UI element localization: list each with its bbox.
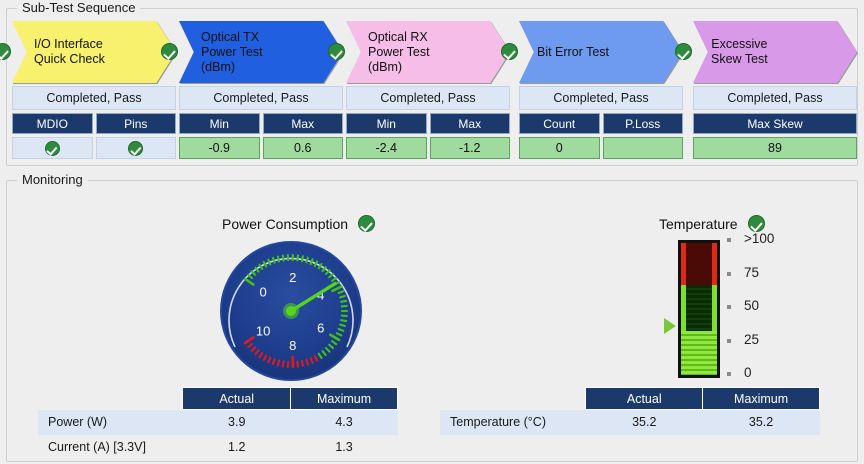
gauge-tick-label: 0: [259, 285, 266, 300]
table-row: Power (W)3.94.3: [38, 410, 398, 435]
power-consumption-gauge: 0246810: [219, 241, 363, 381]
table-cell-actual: 1.2: [183, 435, 291, 460]
test-block-chevron[interactable]: Excessive Skew Test: [693, 21, 857, 83]
table-row: Temperature (°C)35.235.2: [440, 410, 820, 435]
temperature-table-col-actual: Actual: [586, 388, 703, 410]
test-block-label: Optical TX Power Test (dBm): [179, 30, 301, 75]
chevron-shape: Optical RX Power Test (dBm): [346, 21, 510, 83]
test-block-status: Completed, Pass: [179, 86, 343, 110]
table-cell-maximum: 35.2: [703, 410, 820, 435]
thermometer-tick: [727, 339, 731, 343]
check-circle-icon: [748, 215, 765, 232]
check-circle-icon: [358, 215, 375, 232]
test-block[interactable]: Optical TX Power Test (dBm)Completed, Pa…: [179, 21, 343, 159]
check-circle-icon: [45, 141, 60, 156]
table-cell-label: Temperature (°C): [440, 410, 586, 435]
test-block-column-headers: MDIOPins: [12, 113, 176, 134]
test-block-column-headers: MinMax: [346, 113, 510, 134]
test-block-status: Completed, Pass: [346, 86, 510, 110]
chevron-shape: I/O Interface Quick Check: [12, 21, 176, 83]
column-header: Max: [430, 113, 511, 134]
column-header: Min: [346, 113, 427, 134]
column-header: MDIO: [12, 113, 93, 134]
power-consumption-header: Power Consumption: [222, 215, 375, 232]
test-block-values: 89: [693, 137, 857, 159]
gauge-tick: [283, 256, 284, 261]
value-cell: -2.4: [346, 137, 427, 159]
check-circle-icon: [128, 141, 143, 156]
test-block-values: 0: [519, 137, 683, 159]
gauge-tick: [302, 256, 303, 261]
thermometer-fill: [681, 331, 717, 375]
thermometer-scale-label: 25: [744, 332, 759, 347]
power-table-col-maximum: Maximum: [291, 388, 398, 410]
thermometer-scale-label: 0: [744, 365, 752, 380]
gauge-tick: [297, 255, 298, 260]
column-header: Max: [263, 113, 344, 134]
power-table-header-row: Actual Maximum: [38, 388, 398, 410]
thermometer-normal-zone: [681, 285, 717, 331]
test-block-values: -0.90.6: [179, 137, 343, 159]
chevron-shape: Optical TX Power Test (dBm): [179, 21, 343, 83]
test-block-label: I/O Interface Quick Check: [12, 37, 143, 67]
temperature-table: Actual Maximum Temperature (°C)35.235.2: [440, 387, 820, 435]
gauge-tick: [340, 325, 345, 326]
check-circle-icon: [0, 43, 11, 60]
test-block-label: Optical RX Power Test (dBm): [346, 30, 468, 75]
gauge-tick-label: 6: [317, 321, 324, 336]
test-block[interactable]: I/O Interface Quick CheckCompleted, Pass…: [12, 21, 176, 159]
table-cell-actual: 3.9: [183, 410, 291, 435]
gauge-tick: [302, 361, 303, 366]
gauge-tick: [341, 320, 346, 321]
gauge-tick: [278, 257, 279, 262]
test-block-column-headers: CountP.Loss: [519, 113, 683, 134]
power-table: Actual Maximum Power (W)3.94.3Current (A…: [38, 387, 398, 460]
temperature-label: Temperature: [659, 216, 738, 232]
monitoring-title: Monitoring: [17, 172, 88, 187]
table-cell-maximum: 1.3: [291, 435, 398, 460]
test-block-column-headers: Max Skew: [693, 113, 857, 134]
temperature-table-col-maximum: Maximum: [703, 388, 820, 410]
test-block-chevron[interactable]: Optical TX Power Test (dBm): [179, 21, 343, 83]
gauge-tick: [341, 301, 346, 302]
thermometer-value-marker: [664, 318, 676, 334]
thermometer-tick: [727, 238, 731, 242]
check-circle-icon: [675, 43, 692, 60]
chevron-shape: Bit Error Test: [519, 21, 683, 83]
value-cell: 0.6: [263, 137, 344, 159]
check-circle-icon: [501, 43, 518, 60]
test-block-label: Excessive Skew Test: [693, 37, 806, 67]
gauge-tick: [340, 296, 345, 297]
table-cell-maximum: 4.3: [291, 410, 398, 435]
value-cell: 0: [519, 137, 600, 159]
value-cell: 89: [693, 137, 857, 159]
value-cell: -1.2: [430, 137, 511, 159]
gauge-tick-label: 8: [289, 338, 296, 353]
gauge-tick: [283, 361, 284, 366]
gauge-tick: [297, 362, 298, 367]
column-header: Pins: [96, 113, 177, 134]
test-block[interactable]: Excessive Skew TestCompleted, PassMax Sk…: [693, 21, 857, 159]
check-circle-icon: [328, 43, 345, 60]
thermometer-scale-label: 75: [744, 265, 759, 280]
sub-test-sequence-group: Sub-Test Sequence I/O Interface Quick Ch…: [6, 8, 858, 166]
gauge-tick: [306, 360, 308, 365]
column-header: Count: [519, 113, 600, 134]
column-header: Min: [179, 113, 260, 134]
table-cell-label: Power (W): [38, 410, 183, 435]
power-table-col-blank: [38, 388, 183, 410]
column-header: P.Loss: [603, 113, 684, 134]
value-cell: [96, 137, 177, 159]
gauge-tick: [278, 361, 279, 366]
value-cell: -0.9: [179, 137, 260, 159]
gauge-tick-label: 10: [256, 324, 270, 339]
test-block-label: Bit Error Test: [519, 45, 647, 60]
test-block-chevron[interactable]: Bit Error Test: [519, 21, 683, 83]
value-cell: [603, 137, 684, 159]
test-block-status: Completed, Pass: [12, 86, 176, 110]
test-block-chevron[interactable]: Optical RX Power Test (dBm): [346, 21, 510, 83]
thermometer-critical-zone: [681, 243, 717, 285]
temperature-table-header-row: Actual Maximum: [440, 388, 820, 410]
test-block-status: Completed, Pass: [693, 86, 857, 110]
value-cell: [12, 137, 93, 159]
chevron-shape: Excessive Skew Test: [693, 21, 857, 83]
temperature-table-col-blank: [440, 388, 586, 410]
test-block-status: Completed, Pass: [519, 86, 683, 110]
check-circle-icon: [161, 43, 178, 60]
app-root: Sub-Test Sequence I/O Interface Quick Ch…: [0, 0, 864, 464]
temperature-thermometer: [678, 240, 720, 378]
test-block-values: [12, 137, 176, 159]
power-table-col-actual: Actual: [183, 388, 291, 410]
thermometer-scale-label: 50: [744, 298, 759, 313]
table-row: Current (A) [3.3V]1.21.3: [38, 435, 398, 460]
gauge-tick: [306, 258, 308, 263]
power-consumption-label: Power Consumption: [222, 216, 348, 232]
thermometer-tick: [727, 372, 731, 376]
temperature-header: Temperature: [659, 215, 765, 232]
column-header: Max Skew: [693, 113, 857, 134]
sub-test-sequence-title: Sub-Test Sequence: [17, 0, 140, 15]
thermometer-tick: [727, 305, 731, 309]
test-block-values: -2.4-1.2: [346, 137, 510, 159]
test-block-chevron[interactable]: I/O Interface Quick Check: [12, 21, 176, 83]
gauge-tick-label: 2: [289, 270, 296, 285]
thermometer-scale-label: >100: [744, 231, 774, 246]
test-block[interactable]: Optical RX Power Test (dBm)Completed, Pa…: [346, 21, 510, 159]
thermometer-tick: [727, 272, 731, 276]
test-block-column-headers: MinMax: [179, 113, 343, 134]
test-block[interactable]: Bit Error TestCompleted, PassCountP.Loss…: [519, 21, 683, 159]
table-cell-actual: 35.2: [586, 410, 703, 435]
table-cell-label: Current (A) [3.3V]: [38, 435, 183, 460]
